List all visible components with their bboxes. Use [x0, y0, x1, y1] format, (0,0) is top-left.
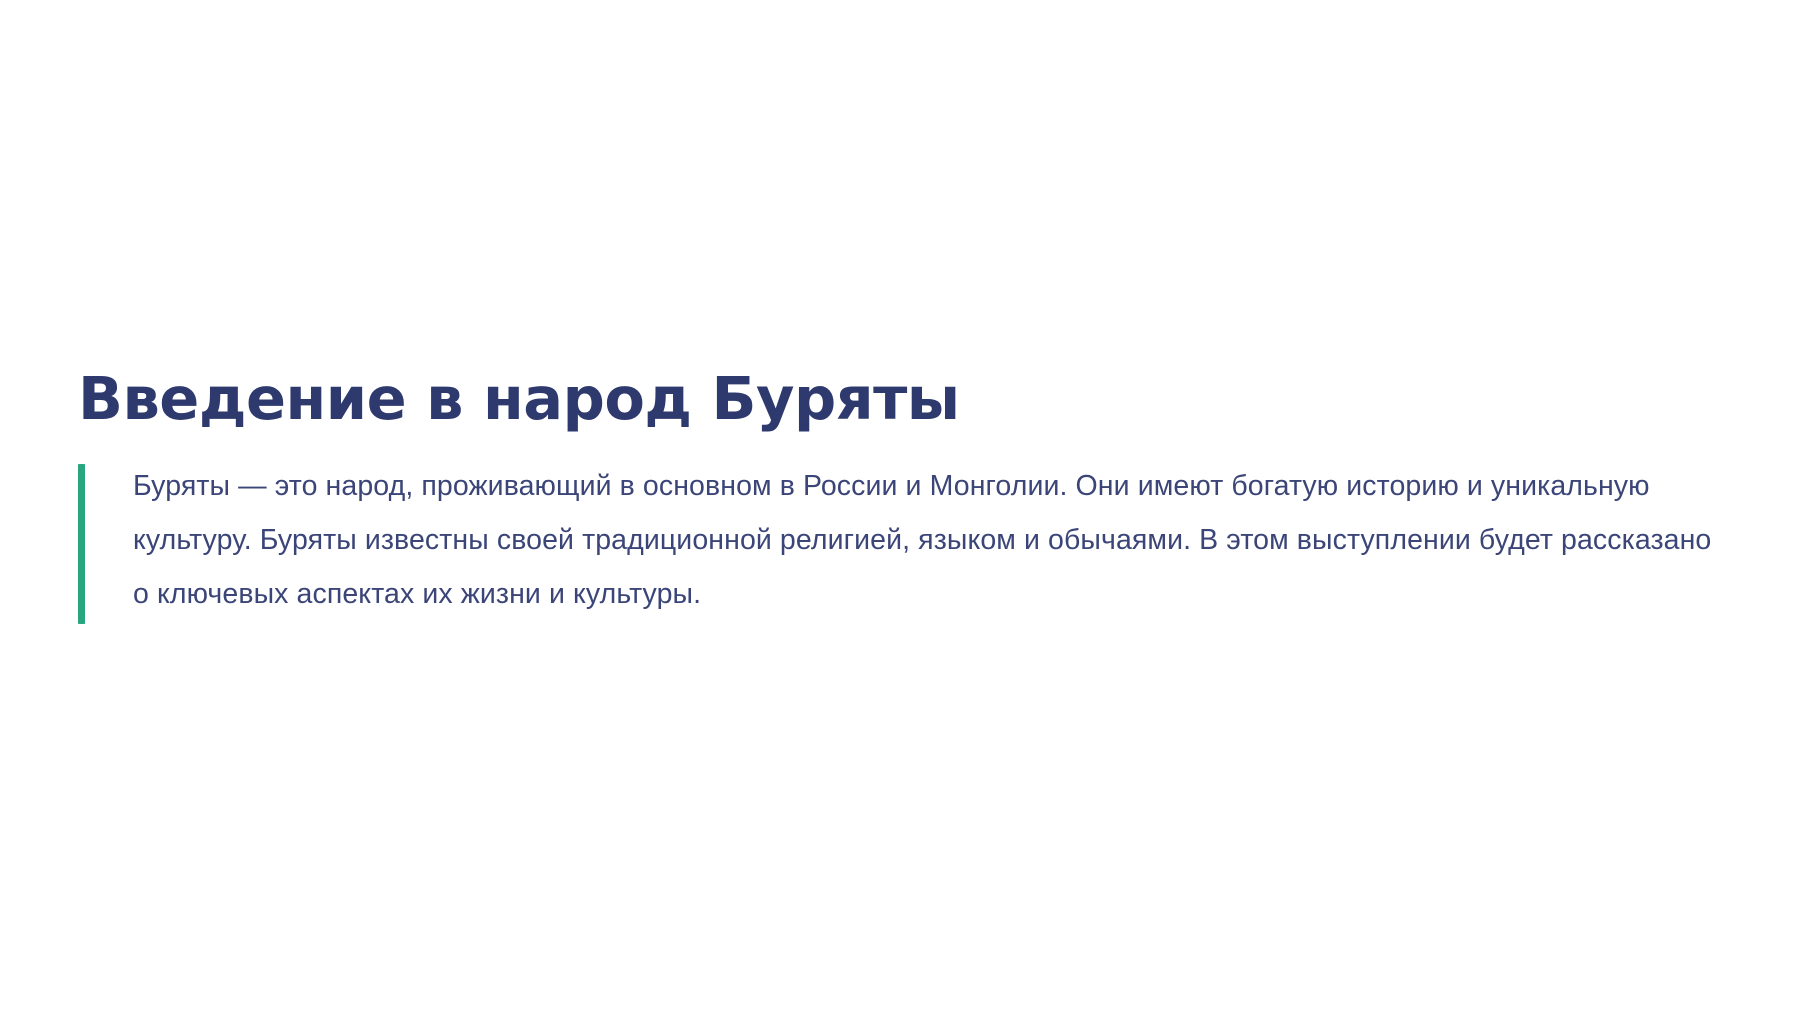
body-callout-block: Буряты — это народ, проживающий в основн…: [78, 459, 1728, 621]
accent-bar: [78, 464, 85, 624]
body-paragraph: Буряты — это народ, проживающий в основн…: [133, 459, 1723, 621]
page-title: Введение в народ Буряты: [78, 366, 1728, 432]
presentation-slide: Введение в народ Буряты Буряты — это нар…: [0, 0, 1800, 1013]
slide-content-block: Введение в народ Буряты Буряты — это нар…: [78, 366, 1728, 621]
